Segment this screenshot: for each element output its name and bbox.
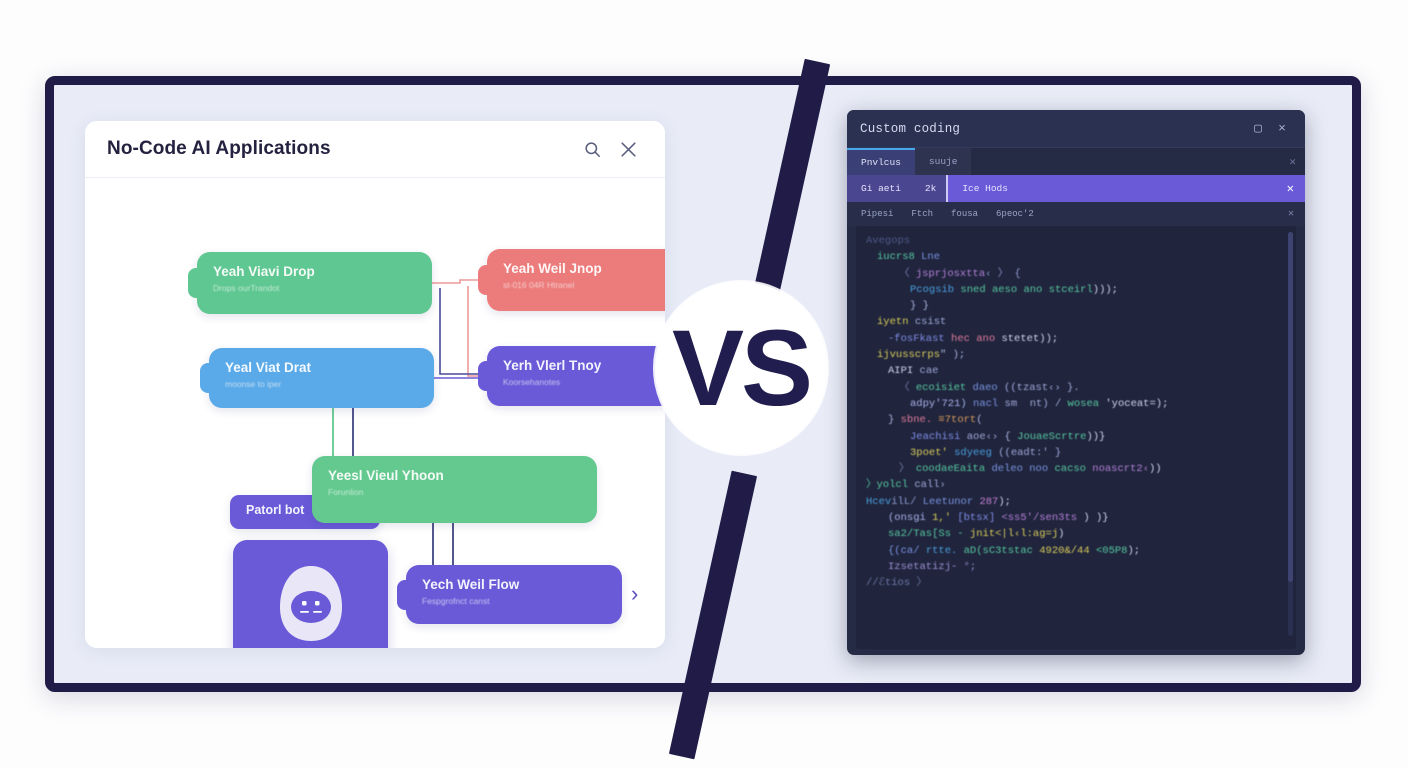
node-connector-nub <box>478 361 496 391</box>
code-token: <05P8 <box>1096 545 1128 557</box>
code-token: <ss5'/sen3ts <box>1001 512 1083 524</box>
urlbar-cell-1[interactable]: Gi aeti <box>847 175 915 202</box>
code-token: ecoisiet <box>916 382 973 394</box>
code-token: 3poet' <box>910 447 954 459</box>
node-title: Yeah Viavi Drop <box>213 264 416 279</box>
code-token: (onsgi <box>888 512 932 524</box>
screenshot-stage: No-Code AI Applications <box>0 0 1408 768</box>
bot-avatar-tile[interactable] <box>233 540 388 648</box>
code-token: )); <box>1039 333 1058 345</box>
robot-avatar-icon <box>272 561 350 647</box>
code-line: {(ca/ rtte. aD(sC3tstac 4920&/44 <05P8); <box>856 543 1296 559</box>
code-line: } sbne. ≡7tort( <box>856 412 1296 428</box>
code-line: (onsgi 1,' [btsx] <ss5'/sen3ts ) )} <box>856 510 1296 526</box>
code-line: 〈 jsprjosxtta‹ 〉 { <box>856 266 1296 282</box>
code-token: iyetn <box>877 316 915 328</box>
code-token: 1,' <box>932 512 957 524</box>
close-button[interactable]: × <box>1272 119 1292 139</box>
code-token: wosea <box>1068 398 1106 410</box>
code-line: //ℰtios 〉 <box>856 575 1296 591</box>
code-line: 〉 coodaeEaita deleo noo cacso noascrt2‹)… <box>856 461 1296 477</box>
code-token: hec <box>951 333 976 345</box>
node-subtitle: st-016 04R Htranel <box>503 280 665 290</box>
code-token: ilL/ <box>891 496 923 508</box>
code-token: sned <box>960 284 992 296</box>
code-token: 'yoceat=); <box>1105 398 1168 410</box>
code-token: daeo <box>973 382 1005 394</box>
code-token: ijvusscrps <box>877 349 940 361</box>
node-title: Yerh Vlerl Tnoy <box>503 358 665 373</box>
code-token: -fosFkast <box>888 333 951 345</box>
node-subtitle: Forunlion <box>328 487 581 497</box>
code-token: 〈 <box>899 268 916 280</box>
code-line: Izsetatizj- °; <box>856 559 1296 575</box>
code-token: stceirl <box>1049 284 1093 296</box>
code-token: } } <box>910 300 929 312</box>
code-editor-title: Custom coding <box>860 122 1244 136</box>
code-line: Jeachisi aoe‹› { JouaeScrtre))} <box>856 429 1296 445</box>
code-token: ) <box>1058 528 1064 540</box>
code-token: sbne. <box>901 414 939 426</box>
code-token: sdyeeg <box>954 447 998 459</box>
node-subtitle: Drops ourTrandot <box>213 283 416 293</box>
node-subtitle: Fespgrofnct canst <box>422 596 606 606</box>
no-code-panel: No-Code AI Applications <box>85 121 665 648</box>
code-line: sa2/Tas[Ss - jnit<|l‹l:ag=j) <box>856 526 1296 542</box>
tab-close-icon[interactable]: ✕ <box>1289 155 1296 169</box>
code-line: AIPI cae <box>856 363 1296 379</box>
urlbar-close-icon[interactable]: ✕ <box>1287 181 1294 196</box>
code-token: ano <box>1023 284 1048 296</box>
code-editor-content[interactable]: Avegopsiucrs8 Lne〈 jsprjosxtta‹ 〉 {Pcogs… <box>856 226 1296 649</box>
code-token: ))); <box>1093 284 1118 296</box>
code-token: call› <box>914 479 946 491</box>
code-editor-titlebar: Custom coding ▢ × <box>847 110 1305 148</box>
code-token: ); <box>1127 545 1140 557</box>
subbar-item-fousa[interactable]: fousa <box>951 209 978 219</box>
code-line: } } <box>856 298 1296 314</box>
urlbar-cell-2[interactable]: 2k <box>915 175 946 202</box>
no-code-panel-header: No-Code AI Applications <box>85 121 665 178</box>
subbar-item-ftch[interactable]: Ftch <box>911 209 933 219</box>
code-token: sm nt) / <box>1005 398 1068 410</box>
code-line: HcevilL/ Leetunor 287); <box>856 494 1296 510</box>
code-editor-tabbar: Pnvlcus suuje ✕ <box>847 148 1305 175</box>
code-line: -fosFkast hec ano stetet)); <box>856 331 1296 347</box>
code-line: iucrs8 Lne <box>856 249 1296 265</box>
code-token: Leetunor <box>923 496 980 508</box>
code-line: adpy'721) nacl sm nt) / wosea 'yoceat=); <box>856 396 1296 412</box>
flow-node-blue1[interactable]: Yeal Viat Drat moonse to iper <box>209 348 434 408</box>
code-lines: Avegopsiucrs8 Lne〈 jsprjosxtta‹ 〉 {Pcogs… <box>856 233 1296 592</box>
code-line: ijvusscrps" ); <box>856 347 1296 363</box>
code-line: 〉yolcl call› <box>856 477 1296 493</box>
code-token: ))} <box>1086 431 1105 443</box>
flow-node-green2[interactable]: Yeesl Vieul Yhoon Forunlion <box>312 456 597 523</box>
code-token: iucrs8 <box>877 251 921 263</box>
code-token: noascrt2‹ <box>1092 463 1149 475</box>
code-line: iyetn csist <box>856 314 1296 330</box>
code-token: Izsetatizj- °; <box>888 561 976 573</box>
code-token: aD(sC3tstac <box>964 545 1040 557</box>
flow-canvas[interactable]: Yeah Viavi Drop Drops ourTrandot Yeah We… <box>85 178 665 648</box>
code-token: Pcogsib <box>910 284 960 296</box>
code-token: ano <box>976 333 1001 345</box>
code-token: ((eadt:' } <box>998 447 1061 459</box>
node-connector-nub <box>200 363 218 393</box>
code-token: deleo <box>991 463 1029 475</box>
code-token: rtte. <box>926 545 964 557</box>
code-token: aeso <box>992 284 1024 296</box>
code-token: 4920&/44 <box>1039 545 1096 557</box>
code-token: cacso <box>1054 463 1092 475</box>
code-token: //ℰtios 〉 <box>866 577 927 589</box>
code-editor-window: Custom coding ▢ × Pnvlcus suuje ✕ Gi aet… <box>847 110 1305 655</box>
maximize-button[interactable]: ▢ <box>1248 119 1268 139</box>
code-token: [btsx] <box>957 512 1001 524</box>
vs-label: VS <box>672 314 810 422</box>
code-token: {(ca/ <box>888 545 926 557</box>
node-connector-nub <box>397 580 415 610</box>
search-icon[interactable] <box>577 134 607 164</box>
code-token: jsprjosxtta <box>916 268 985 280</box>
code-token: 287 <box>979 496 998 508</box>
code-token: coodaeEaita <box>916 463 992 475</box>
subbar-item-opeoc[interactable]: 6peoc'2 <box>996 209 1034 219</box>
flow-node-purple2[interactable]: Yech Weil Flow Fespgrofnct canst <box>406 565 622 624</box>
code-token: " ); <box>940 349 965 361</box>
code-token: ); <box>998 496 1011 508</box>
code-token: Jeachisi <box>910 431 967 443</box>
tab-source[interactable]: suuje <box>915 148 972 175</box>
node-title: Yeesl Vieul Yhoon <box>328 468 581 483</box>
code-line: Avegops <box>856 233 1296 249</box>
code-token: JouaeScrtre <box>1017 431 1086 443</box>
node-subtitle: moonse to iper <box>225 379 418 389</box>
code-line: Pcogsib sned aeso ano stceirl))); <box>856 282 1296 298</box>
node-connector-nub <box>188 268 206 298</box>
code-token: ( <box>976 414 982 426</box>
code-token: noo <box>1029 463 1054 475</box>
code-editor-subbar: Pipesi Ftch fousa 6peoc'2 ✕ <box>847 202 1305 226</box>
close-icon[interactable] <box>613 134 643 164</box>
code-token: 〈 <box>899 382 916 394</box>
vs-badge: VS <box>655 282 827 454</box>
flow-node-purple1[interactable]: Yerh Vlerl Tnoy Koorsehanotes <box>487 346 665 406</box>
urlbar-input[interactable]: Ice Hods <box>946 175 1305 202</box>
code-token: cae <box>920 365 939 377</box>
code-token: nacl <box>973 398 1005 410</box>
node-title: Yeal Viat Drat <box>225 360 418 375</box>
code-token: jnit<|l‹l:ag=j <box>970 528 1058 540</box>
code-token: )) <box>1149 463 1162 475</box>
code-token: } <box>888 414 901 426</box>
node-title: Yech Weil Flow <box>422 577 606 592</box>
code-token: AIPI <box>888 365 920 377</box>
code-token: ((tzast‹› }. <box>1004 382 1080 394</box>
flow-node-green1[interactable]: Yeah Viavi Drop Drops ourTrandot <box>197 252 432 314</box>
code-token: sa2/Tas[Ss - <box>888 528 970 540</box>
page-title: No-Code AI Applications <box>107 138 571 160</box>
subbar-close-icon[interactable]: ✕ <box>1288 208 1294 220</box>
code-line: 〈 ecoisiet daeo ((tzast‹› }. <box>856 380 1296 396</box>
code-token: ≡7tort <box>938 414 976 426</box>
code-scrollbar-thumb[interactable] <box>1288 232 1293 582</box>
code-token: Avegops <box>866 235 910 247</box>
code-token: csist <box>915 316 947 328</box>
code-line: 3poet' sdyeeg ((eadt:' } <box>856 445 1296 461</box>
flow-node-red1[interactable]: Yeah Weil Jnop st-016 04R Htranel <box>487 249 665 311</box>
code-token: adpy'721) <box>910 398 973 410</box>
code-token: 〉yolcl <box>866 479 914 491</box>
code-token: { <box>1005 431 1018 443</box>
node-title: Yeah Weil Jnop <box>503 261 665 276</box>
code-token: aoe‹› <box>967 431 1005 443</box>
subbar-item-pipesi[interactable]: Pipesi <box>861 209 893 219</box>
code-token: Lne <box>921 251 940 263</box>
chevron-right-icon[interactable]: › <box>631 583 638 605</box>
code-token: 〉 <box>899 463 916 475</box>
code-token: ) )} <box>1083 512 1108 524</box>
code-token: stetet <box>1001 333 1039 345</box>
node-subtitle: Koorsehanotes <box>503 377 665 387</box>
tab-preview[interactable]: Pnvlcus <box>847 148 915 175</box>
code-editor-urlbar: Gi aeti 2k Ice Hods ✕ <box>847 175 1305 202</box>
code-token: ‹ 〉 { <box>985 268 1021 280</box>
code-token: Hcev <box>866 496 891 508</box>
node-connector-nub <box>478 265 496 295</box>
